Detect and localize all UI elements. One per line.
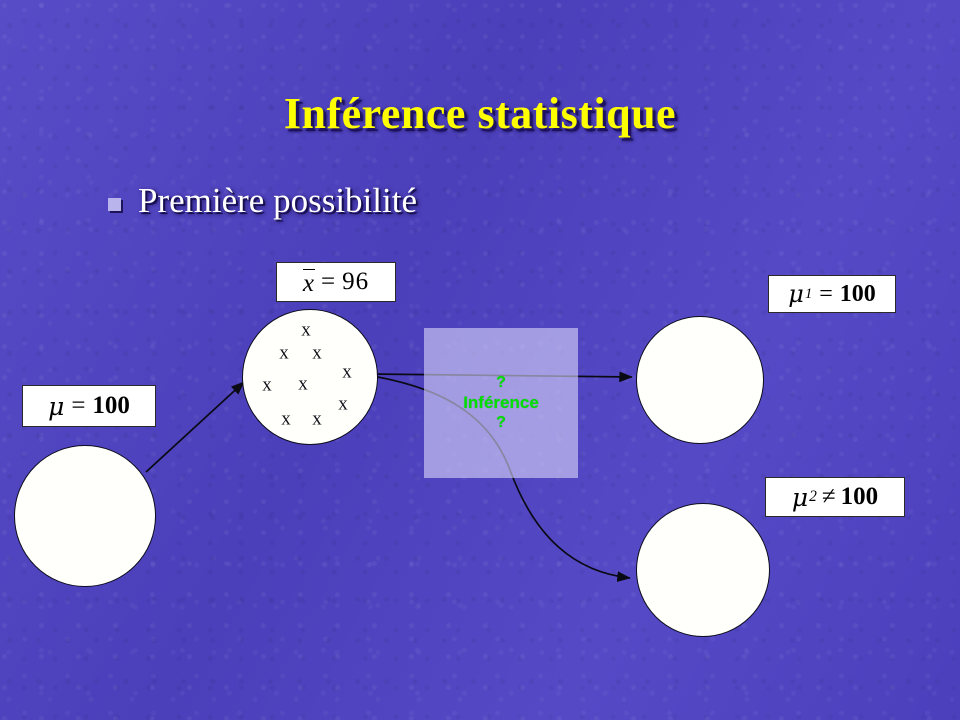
hypothesis-circle-h2 bbox=[636, 503, 770, 637]
observation-x: x bbox=[279, 344, 289, 363]
hypothesis-1-value: 100 bbox=[840, 281, 876, 308]
population-mean-relation: = bbox=[65, 392, 92, 420]
question-mark-bottom: ? bbox=[496, 414, 506, 432]
inference-label: Inférence bbox=[463, 393, 539, 413]
population-circle bbox=[14, 445, 156, 587]
slide: Inférence statistique Première possibili… bbox=[0, 0, 960, 720]
hypothesis-2-relation: ≠ bbox=[818, 483, 841, 511]
inference-diagram: ? Inférence ? x x x x x x x x x x = 96 μ… bbox=[0, 0, 960, 720]
sample-mean-value: 96 bbox=[342, 268, 369, 296]
hypothesis-2-symbol: μ bbox=[792, 483, 809, 512]
observation-x: x bbox=[338, 395, 348, 414]
formula-sample-mean: x = 96 bbox=[276, 262, 396, 302]
observation-x: x bbox=[301, 321, 311, 340]
inference-panel-content: ? Inférence ? bbox=[424, 328, 578, 478]
sample-mean-symbol: x bbox=[303, 269, 315, 296]
hypothesis-1-symbol: μ bbox=[788, 280, 805, 308]
formula-population-mean: μ = 100 bbox=[22, 385, 156, 427]
hypothesis-1-subscript: 1 bbox=[805, 286, 813, 303]
sample-mean-relation: = bbox=[315, 268, 342, 296]
formula-hypothesis-1: μ1 = 100 bbox=[768, 275, 896, 313]
hypothesis-2-value: 100 bbox=[841, 483, 879, 511]
population-mean-value: 100 bbox=[92, 392, 130, 420]
observation-x: x bbox=[262, 376, 272, 395]
formula-hypothesis-2: μ2 ≠ 100 bbox=[765, 477, 905, 517]
observation-x: x bbox=[281, 410, 291, 429]
arrow-population-to-sample bbox=[146, 382, 244, 472]
observation-x: x bbox=[298, 375, 308, 394]
observation-x: x bbox=[312, 344, 322, 363]
hypothesis-circle-h1 bbox=[636, 316, 764, 444]
hypothesis-1-relation: = bbox=[813, 281, 840, 308]
population-mean-symbol: μ bbox=[48, 392, 65, 421]
question-mark-top: ? bbox=[496, 374, 506, 392]
hypothesis-2-subscript: 2 bbox=[809, 488, 818, 506]
observation-x: x bbox=[342, 363, 352, 382]
observation-x: x bbox=[312, 410, 322, 429]
